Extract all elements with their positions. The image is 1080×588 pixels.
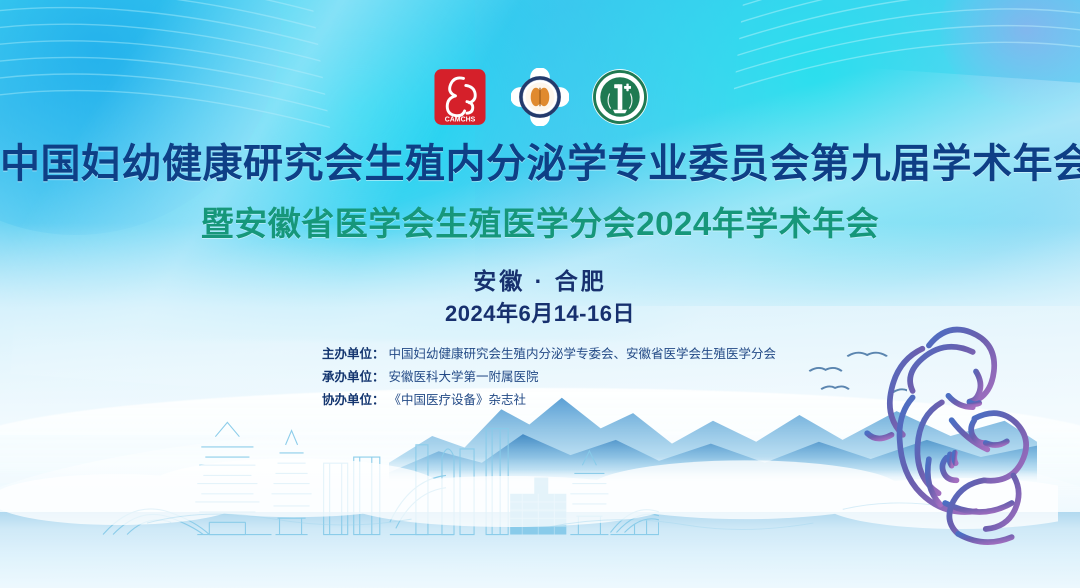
page-subtitle: 暨安徽省医学会生殖医学分会2024年学术年会	[0, 206, 1080, 242]
organizer-row-undertaker: 承办单位： 安徽医科大学第一附属医院	[322, 366, 758, 385]
organizer-row-host: 主办单位： 中国妇幼健康研究会生殖内分泌学专委会、安徽省医学会生殖医学分会	[322, 343, 758, 362]
organizer-list: 主办单位： 中国妇幼健康研究会生殖内分泌学专委会、安徽省医学会生殖医学分会 承办…	[0, 343, 1080, 408]
mother-and-baby-illustration	[849, 300, 1064, 568]
event-location: 安徽 · 合肥	[0, 262, 1080, 296]
organizer-label-host: 主办单位：	[322, 343, 385, 362]
camchs-logo: CAMCHS	[431, 68, 489, 126]
first-affiliated-hospital-logo	[591, 68, 649, 126]
event-date: 2024年6月14-16日	[0, 296, 1080, 328]
page-title: 中国妇幼健康研究会生殖内分泌学专业委员会第九届学术年会	[0, 143, 1080, 186]
conference-poster: CAMCHS	[0, 0, 1080, 588]
organizer-value-host: 中国妇幼健康研究会生殖内分泌学专委会、安徽省医学会生殖医学分会	[389, 343, 777, 362]
organizer-row-coorganizer: 协办单位： 《中国医疗设备》杂志社	[322, 389, 758, 408]
organizer-value-undertaker: 安徽医科大学第一附属医院	[389, 366, 539, 385]
organizer-value-coorganizer: 《中国医疗设备》杂志社	[389, 389, 527, 408]
anhui-medical-association-logo	[511, 68, 569, 126]
logo-row: CAMCHS	[0, 68, 1080, 126]
organizer-label-undertaker: 承办单位：	[322, 366, 385, 385]
camchs-logo-text: CAMCHS	[445, 116, 476, 123]
organizer-label-coorganizer: 协办单位：	[322, 389, 385, 408]
